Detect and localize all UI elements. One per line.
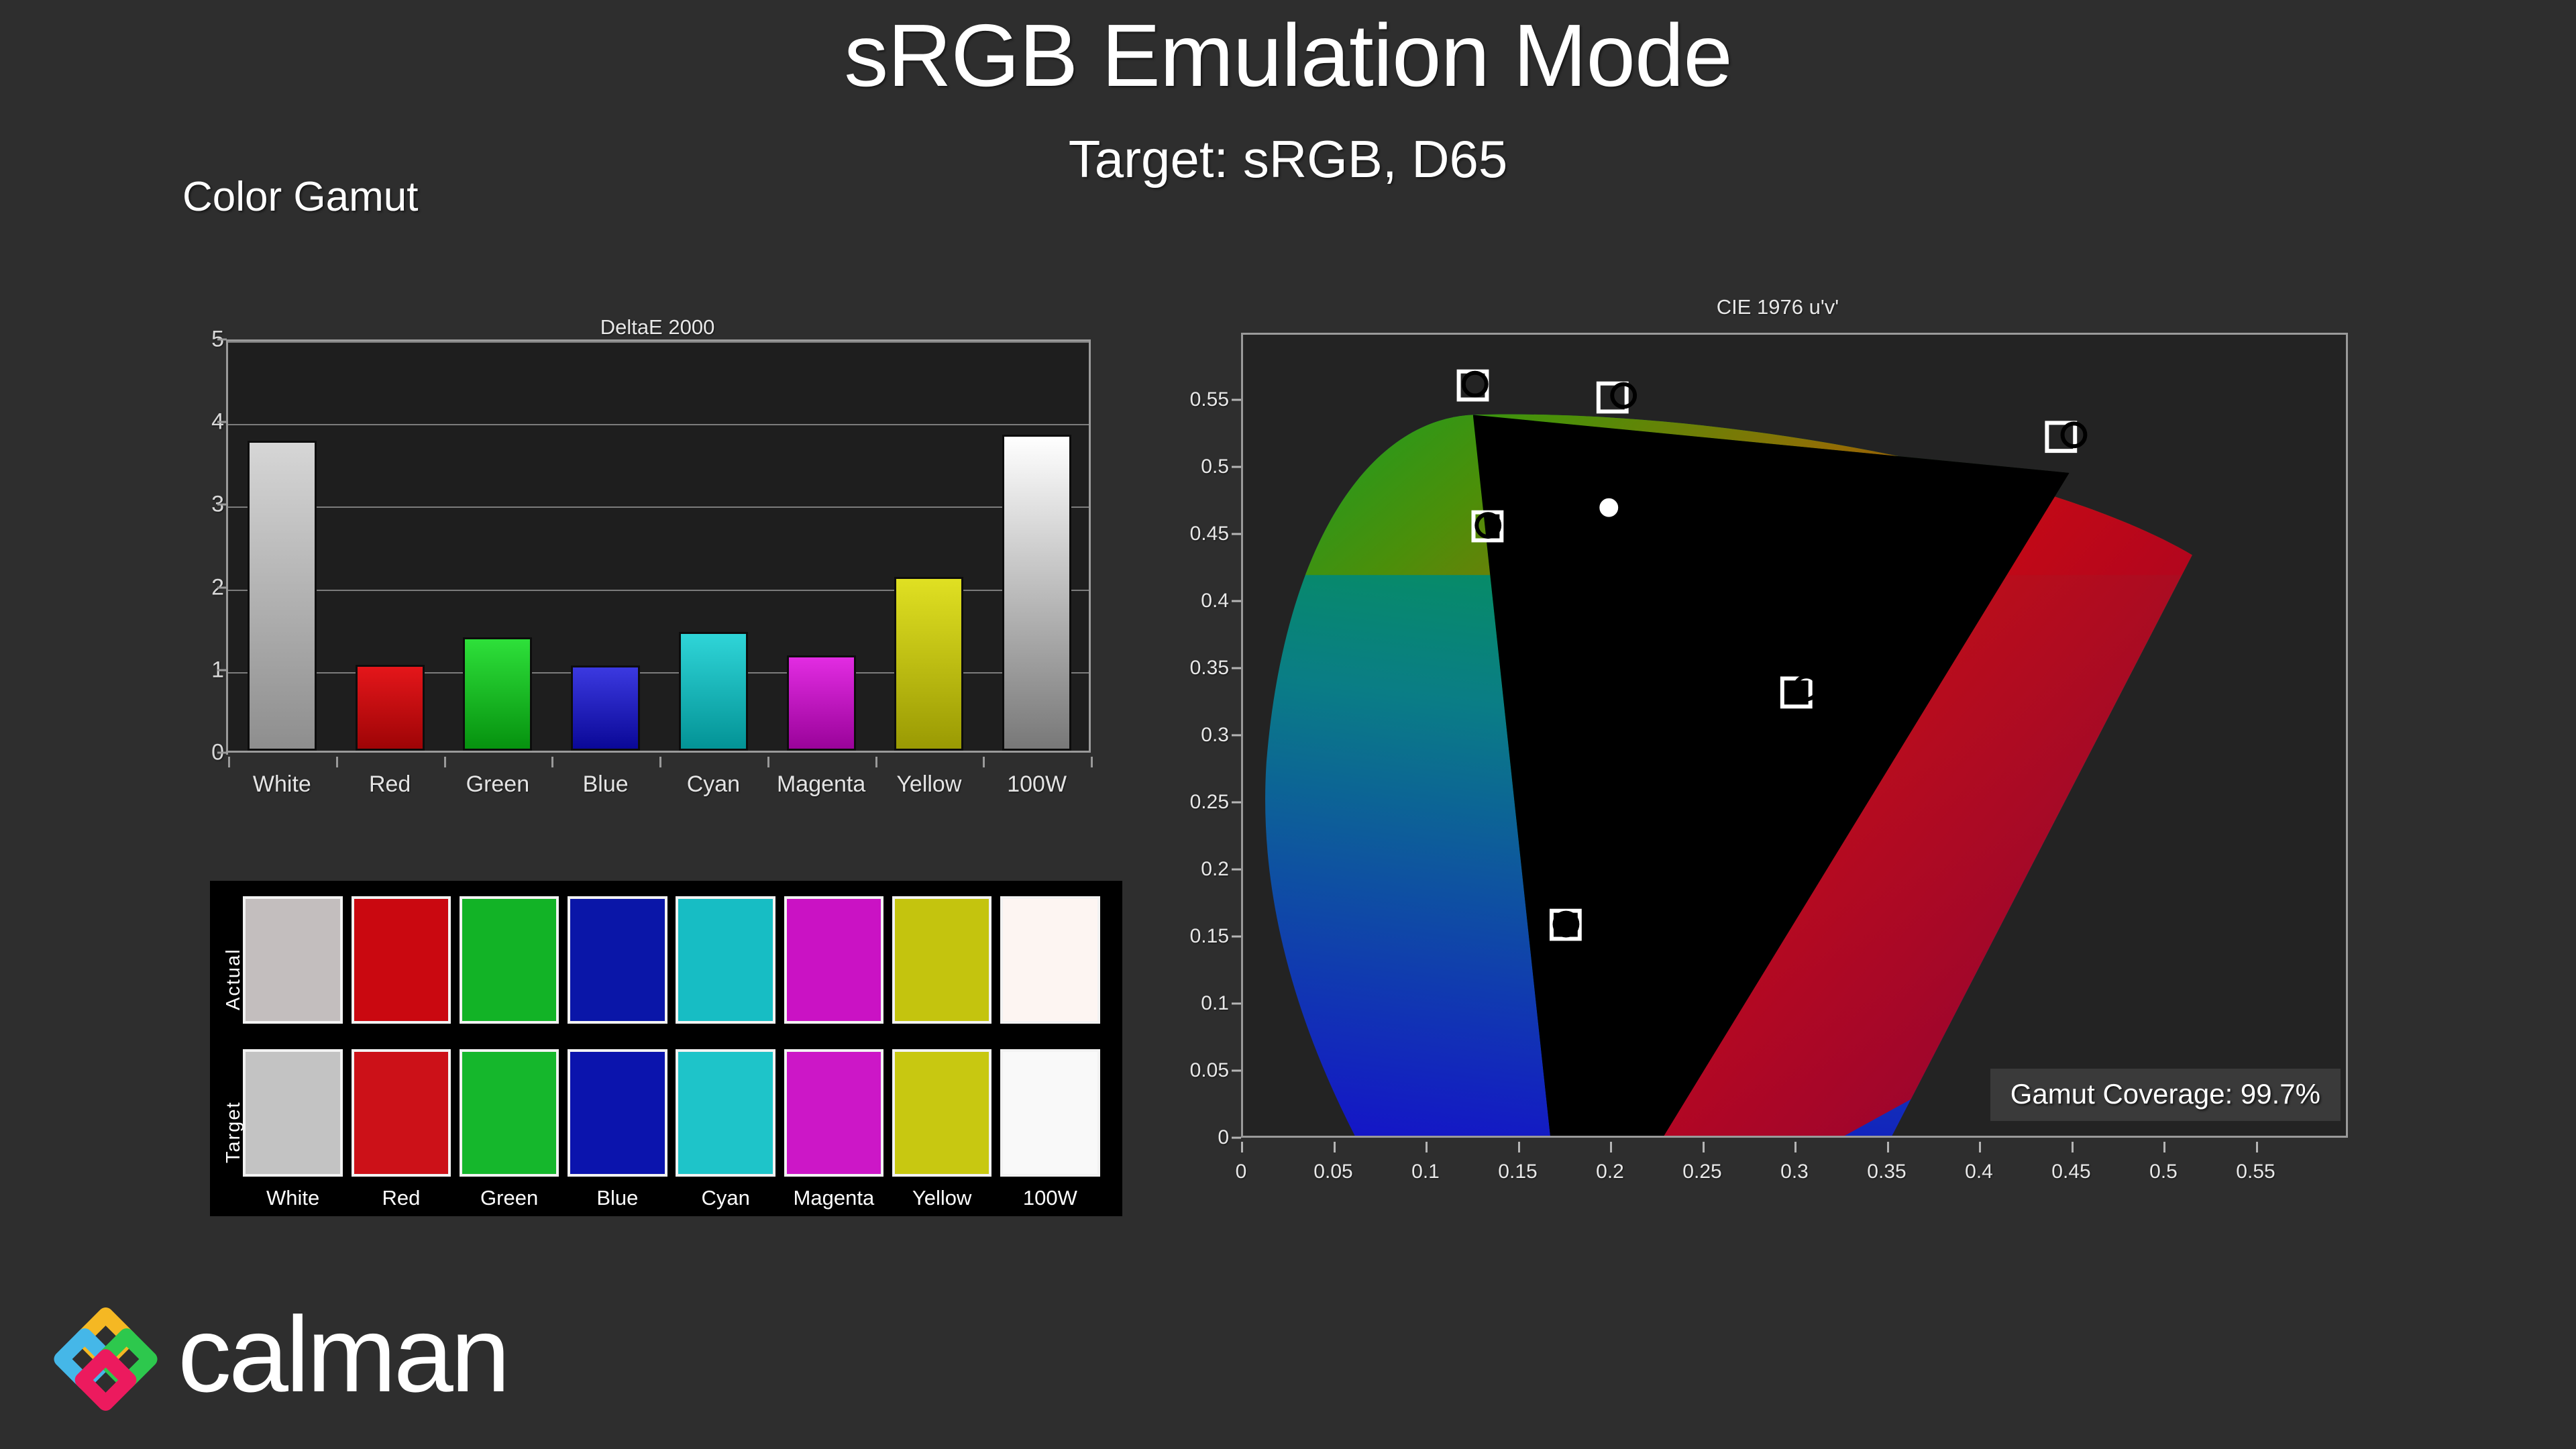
cie-y-tick-mark [1232,1070,1241,1072]
swatch-actual [352,896,451,1024]
swatch-caption: White [266,1186,319,1210]
cie-y-tick-label: 0.2 [1162,858,1229,881]
swatch-comparison-panel: Actual Target WhiteRedGreenBlueCyanMagen… [210,881,1122,1216]
deltae-x-tick-mark [1091,757,1093,767]
cie-measured-circle [1464,373,1487,396]
cie-x-tick-label: 0.55 [2236,1161,2275,1183]
swatch-caption: Cyan [701,1186,749,1210]
deltae-bars [228,341,1089,751]
cie-x-tick-label: 0.4 [1965,1161,1993,1183]
cie-x-tick-label: 0.45 [2051,1161,2090,1183]
cie-y-tick-mark [1232,1137,1241,1139]
cie-x-tick-label: 0.25 [1682,1161,1721,1183]
cie-y-tick-label: 0.05 [1162,1059,1229,1082]
cie-x-tick-mark [1426,1142,1428,1152]
swatch-actual [676,896,775,1024]
deltae-bar [679,632,748,751]
calman-wordmark: calman [178,1291,508,1418]
cie-x-tick-mark [1979,1142,1981,1152]
cie-x-tick-label: 0.15 [1498,1161,1537,1183]
cie-y-tick-mark [1232,1003,1241,1005]
deltae-x-tick-mark [551,757,553,767]
cie-x-tick-mark [1794,1142,1796,1152]
cie-chart-title: CIE 1976 u'v' [1167,295,2388,319]
cie-y-tick-mark [1232,466,1241,468]
page-title: sRGB Emulation Mode [0,9,2576,103]
deltae-y-tick-mark [217,339,227,341]
cie-marker-yellow [1599,384,1635,412]
swatch-target [892,1049,991,1177]
deltae-chart-title: DeltaE 2000 [215,315,1100,339]
cie-y-tick-mark [1232,600,1241,602]
deltae-y-tick-label: 4 [170,409,224,435]
cie-y-tick-label: 0.15 [1162,925,1229,948]
cie-x-tick-mark [2163,1142,2165,1152]
swatch-actual [568,896,667,1024]
deltae-chart-panel: DeltaE 2000 012345 WhiteRedGreenBlueCyan… [215,315,1100,798]
deltae-y-tick-mark [217,421,227,423]
swatch-target [676,1049,775,1177]
cie-y-tick-label: 0.25 [1162,791,1229,814]
cie-y-tick-mark [1232,735,1241,737]
deltae-x-tick-label: 100W [1007,771,1067,798]
deltae-x-tick-mark [444,757,446,767]
calman-logo-mark-icon [47,1299,164,1419]
cie-chart-panel: CIE 1976 u'v' [1167,295,2388,1221]
deltae-y-tick-label: 2 [170,574,224,600]
cie-x-tick-mark [1887,1142,1889,1152]
swatch-actual [1000,896,1099,1024]
cie-y-tick-mark [1232,667,1241,669]
deltae-x-tick-mark [983,757,985,767]
swatch-target [1000,1049,1099,1177]
swatch-actual [892,896,991,1024]
deltae-x-tick-label: Cyan [687,771,740,798]
cie-x-tick-mark [1610,1142,1612,1152]
cie-x-tick-mark [2072,1142,2074,1152]
swatch-target [784,1049,883,1177]
swatch-actual [784,896,883,1024]
report-page: sRGB Emulation Mode Target: sRGB, D65 Co… [0,0,2576,1449]
deltae-x-tick-mark [767,757,769,767]
swatch-target [460,1049,559,1177]
deltae-x-tick-mark [875,757,877,767]
cie-x-tick-mark [1241,1142,1243,1152]
cie-x-tick-label: 0.5 [2149,1161,2178,1183]
swatch-target [243,1049,342,1177]
swatch-caption: Yellow [912,1186,971,1210]
cie-y-tick-label: 0.55 [1162,388,1229,411]
swatch-row-target: Target [239,1049,1104,1177]
cie-y-tick-mark [1232,869,1241,871]
cie-y-tick-mark [1232,399,1241,401]
deltae-x-tick-label: Green [466,771,530,798]
cie-plot-area: Gamut Coverage: 99.7% [1241,333,2348,1138]
cie-y-tick-label: 0.45 [1162,523,1229,545]
cie-y-tick-label: 0.1 [1162,992,1229,1015]
swatch-caption: Magenta [794,1186,875,1210]
cie-x-tick-mark [1334,1142,1336,1152]
cie-x-tick-label: 0 [1236,1161,1247,1183]
deltae-x-tick-mark [336,757,338,767]
deltae-bar [248,441,317,751]
swatch-target [352,1049,451,1177]
cie-x-tick-label: 0.35 [1867,1161,1906,1183]
deltae-x-tick-label: Yellow [896,771,961,798]
cie-y-tick-label: 0.35 [1162,657,1229,680]
swatch-caption: Green [480,1186,538,1210]
deltae-x-tick-label: White [253,771,311,798]
cie-x-tick-label: 0.3 [1780,1161,1809,1183]
swatch-target [568,1049,667,1177]
cie-marker-green [1459,372,1487,400]
swatch-row-actual: Actual [239,896,1104,1024]
cie-x-tick-label: 0.2 [1596,1161,1624,1183]
swatch-row-label-target: Target [223,1063,245,1163]
swatch-row-label-actual: Actual [223,910,245,1010]
deltae-y-tick-mark [217,752,227,754]
calman-logo: calman [40,1295,644,1422]
deltae-x-tick-mark [228,757,230,767]
cie-measured-circle [1612,384,1635,407]
deltae-y-tick-label: 1 [170,657,224,683]
cie-y-tick-mark [1232,802,1241,804]
deltae-bar [356,665,425,751]
deltae-y-tick-mark [217,504,227,506]
cie-x-tick-mark [1518,1142,1520,1152]
deltae-bar [787,655,856,751]
swatch-actual [460,896,559,1024]
deltae-x-tick-label: Blue [583,771,629,798]
section-label-color-gamut: Color Gamut [182,173,418,221]
cie-marker-red [2047,423,2085,451]
cie-y-tick-label: 0.4 [1162,590,1229,612]
deltae-y-tick-label: 3 [170,492,224,518]
deltae-y-tick-label: 5 [170,327,224,353]
deltae-x-tick-label: Magenta [777,771,865,798]
cie-x-tick-label: 0.05 [1313,1161,1352,1183]
cie-y-tick-label: 0.3 [1162,724,1229,747]
cie-x-tick-mark [2256,1142,2258,1152]
swatch-caption: Blue [596,1186,638,1210]
swatch-caption: 100W [1023,1186,1077,1210]
deltae-x-tick-mark [659,757,661,767]
cie-x-tick-mark [1703,1142,1705,1152]
cie-x-tick-label: 0.1 [1411,1161,1440,1183]
swatch-caption: Red [382,1186,420,1210]
deltae-plot-area [228,339,1091,753]
cie-y-tick-label: 0.5 [1162,455,1229,478]
gamut-coverage-badge: Gamut Coverage: 99.7% [1990,1069,2341,1121]
cie-y-tick-mark [1232,936,1241,938]
cie-diagram-svg [1243,335,2346,1136]
deltae-y-tick-mark [217,669,227,671]
deltae-bar [894,577,963,751]
cie-measured-circle [1597,496,1620,519]
deltae-y-tick-mark [217,586,227,588]
deltae-y-tick-label: 0 [170,740,224,766]
cie-y-tick-label: 0 [1162,1126,1229,1149]
deltae-bar [1002,435,1071,751]
cie-y-tick-mark [1232,533,1241,535]
swatch-actual [243,896,342,1024]
deltae-bar [571,665,640,751]
deltae-bar [463,637,532,751]
deltae-x-tick-label: Red [369,771,411,798]
